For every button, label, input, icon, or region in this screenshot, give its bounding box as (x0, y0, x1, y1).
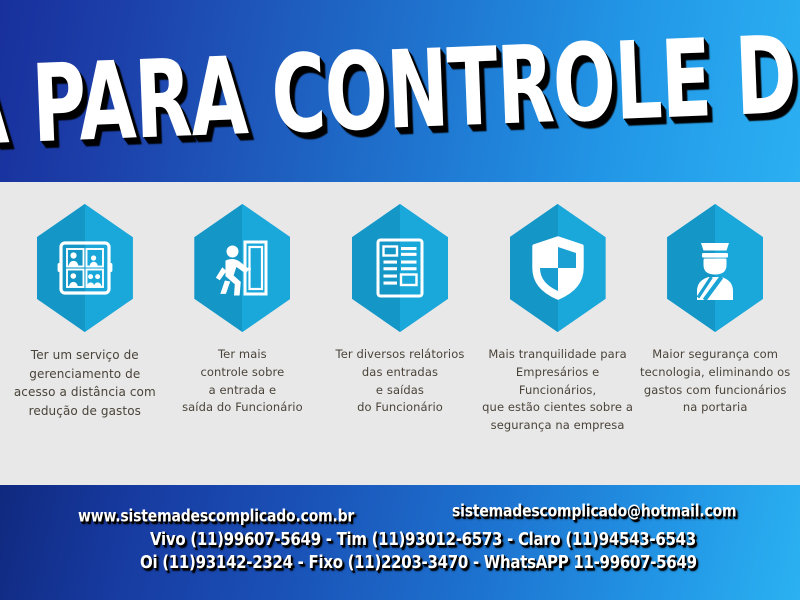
footer-website[interactable]: www.sistemadescomplicado.com.br (78, 508, 354, 527)
footer-phones-line-2: Oi (11)93142-2324 - Fixo (11)2203-3470 -… (140, 551, 697, 572)
page-title: SISTEMA PARA CONTROLE DE PONTO (0, 11, 800, 171)
feature-item-reports: Ter diversos relátorios das entradas e s… (321, 182, 479, 485)
poster-root: SISTEMA PARA CONTROLE DE PONTO (0, 0, 800, 600)
feature-caption: Maior segurança com tecnologia, eliminan… (640, 346, 790, 417)
feature-hexagon (352, 204, 448, 332)
security-guard-icon (689, 236, 741, 300)
feature-caption: Ter diversos relátorios das entradas e s… (336, 346, 465, 417)
poster-header: SISTEMA PARA CONTROLE DE PONTO (0, 0, 800, 182)
feature-hexagon (37, 204, 133, 332)
feature-item-gate-security: Maior segurança com tecnologia, eliminan… (636, 182, 794, 485)
features-panel: Ter um serviço de gerenciamento de acess… (0, 182, 800, 485)
feature-caption: Ter mais controle sobre a entrada e saíd… (182, 346, 303, 417)
feature-item-entry-control: Ter mais controle sobre a entrada e saíd… (164, 182, 322, 485)
feature-caption: Ter um serviço de gerenciamento de acess… (14, 346, 156, 420)
feature-item-remote-access: Ter um serviço de gerenciamento de acess… (6, 182, 164, 485)
feature-hexagon (194, 204, 290, 332)
feature-caption: Mais tranquilidade para Empresários e Fu… (479, 346, 637, 435)
person-entering-door-icon (214, 239, 270, 297)
tablet-people-icon (56, 241, 114, 295)
report-document-icon (375, 238, 425, 298)
feature-hexagon (510, 204, 606, 332)
footer-email[interactable]: sistemadescomplicado@hotmail.com (452, 503, 736, 522)
title-container: SISTEMA PARA CONTROLE DE PONTO (0, 0, 800, 182)
features-list: Ter um serviço de gerenciamento de acess… (0, 182, 800, 485)
shield-icon (531, 236, 585, 300)
poster-footer: www.sistemadescomplicado.com.br sistemad… (0, 485, 800, 600)
footer-phones-line-1: Vivo (11)99607-5649 - Tim (11)93012-6573… (150, 528, 696, 549)
feature-item-security-peace: Mais tranquilidade para Empresários e Fu… (479, 182, 637, 485)
feature-hexagon (667, 204, 763, 332)
